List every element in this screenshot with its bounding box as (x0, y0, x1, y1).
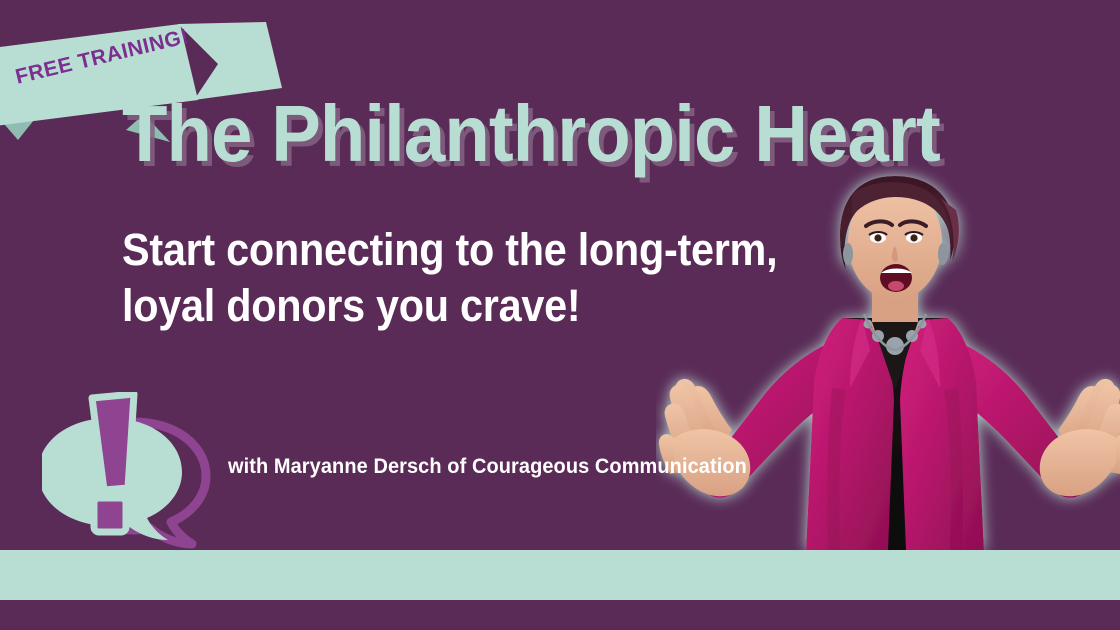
footer-mint-bar (0, 550, 1120, 600)
subtitle-line-1: Start connecting to the long-term, (122, 222, 777, 278)
subtitle: Start connecting to the long-term, loyal… (122, 222, 777, 334)
presenter-photo (656, 150, 1120, 550)
promo-banner-canvas: FREE TRAINING! The Philanthropic Heart S… (0, 0, 1120, 630)
courageous-communication-logo (42, 392, 217, 552)
page-title: The Philanthropic Heart (122, 92, 940, 176)
footer-purple-strip (0, 600, 1120, 630)
exclamation-mark-icon (92, 394, 134, 532)
subtitle-line-2: loyal donors you crave! (122, 278, 777, 334)
presenter-credit: with Maryanne Dersch of Courageous Commu… (228, 455, 747, 479)
